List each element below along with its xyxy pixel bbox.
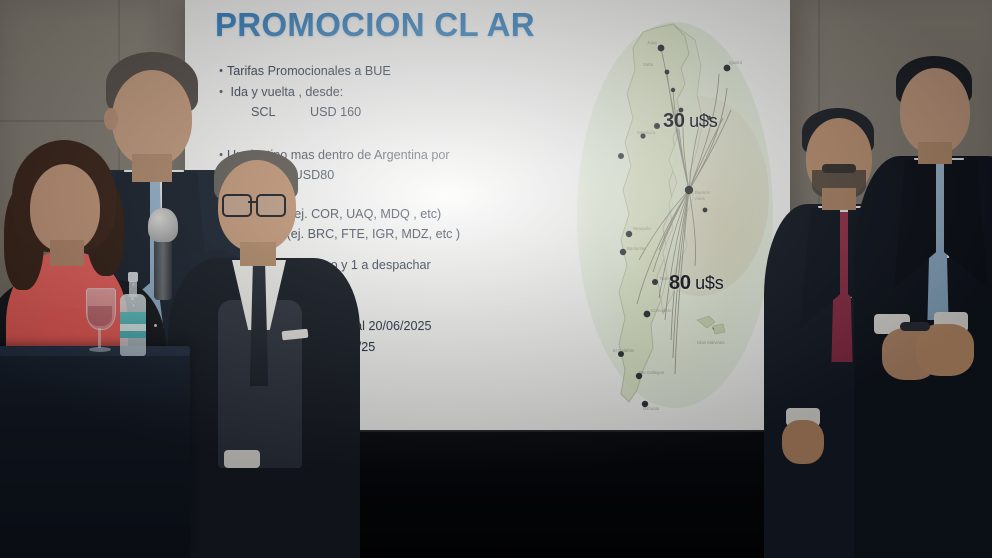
photo-vignette <box>0 0 992 558</box>
event-photo-scene: PROMOCION CL AR • Tarifas Promocionales … <box>0 0 992 558</box>
